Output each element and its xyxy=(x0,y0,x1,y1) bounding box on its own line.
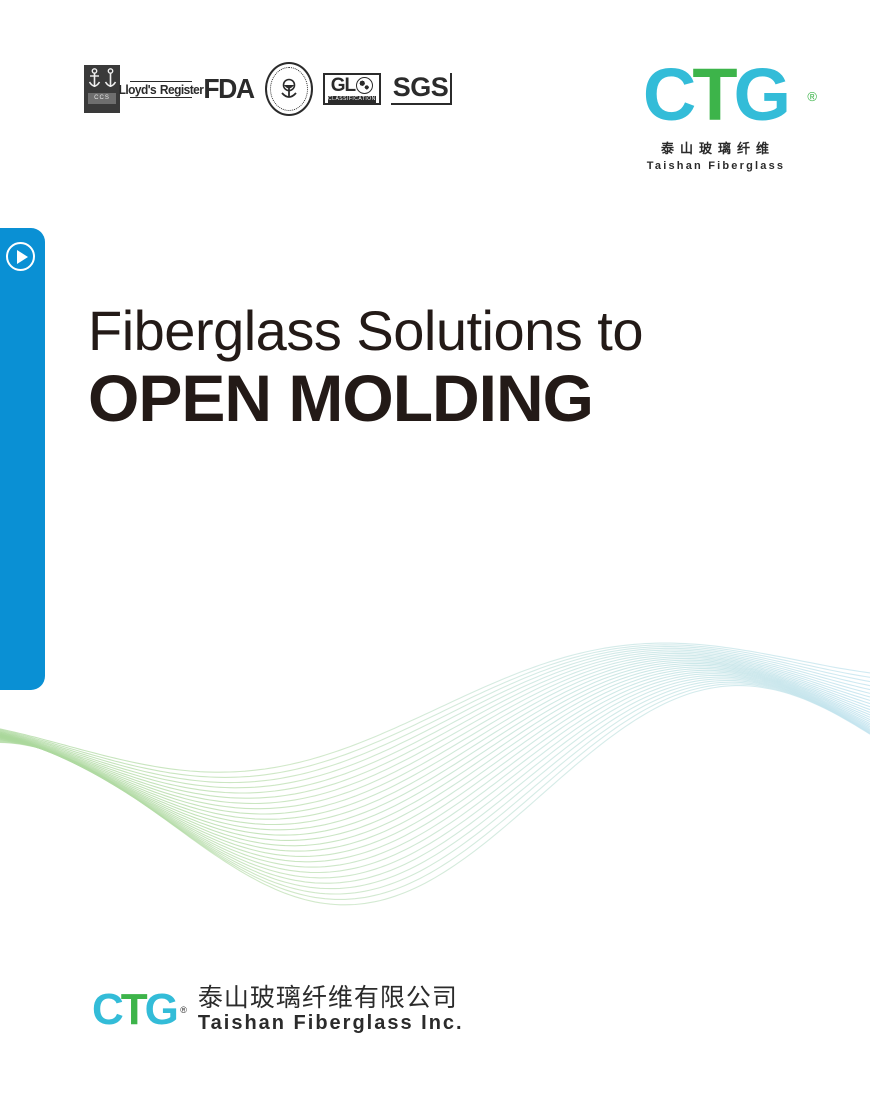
footer-chinese-name: 泰山玻璃纤维有限公司 xyxy=(198,985,464,1012)
footer-branding: CTG ® 泰山玻璃纤维有限公司 Taishan Fiberglass Inc. xyxy=(92,985,464,1035)
footer-english-name: Taishan Fiberglass Inc. xyxy=(198,1012,464,1035)
glo-logo: GL CLASSIFICATION xyxy=(323,73,381,105)
title-line-1: Fiberglass Solutions to xyxy=(88,300,643,362)
footer-letter-c: C xyxy=(92,985,121,1034)
footer-letter-g: G xyxy=(145,985,176,1034)
footer-company-name: 泰山玻璃纤维有限公司 Taishan Fiberglass Inc. xyxy=(198,985,464,1035)
dnv-emblem-icon xyxy=(278,76,300,102)
anchor-icons xyxy=(88,68,117,90)
anchor-icon xyxy=(88,68,101,90)
lloyds-line1: Lloyd's xyxy=(119,83,157,96)
registered-mark-icon: ® xyxy=(807,60,817,134)
footer-registered-mark-icon: ® xyxy=(180,988,187,1032)
ccs-logo: CCS xyxy=(84,65,120,113)
ctg-chinese-name: 泰山玻璃纤维 xyxy=(625,138,805,157)
title-line-2: OPEN MOLDING xyxy=(88,362,643,434)
anchor-icon xyxy=(104,68,117,90)
cover-title: Fiberglass Solutions to OPEN MOLDING xyxy=(88,300,643,434)
ctg-header-logo: CTG ® 泰山玻璃纤维 Taishan Fiberglass xyxy=(625,58,805,172)
lloyds-line2: Register xyxy=(160,83,203,96)
glo-sublabel: CLASSIFICATION xyxy=(328,96,376,103)
ctg-letter-g: G xyxy=(734,53,788,136)
fda-logo: FDA xyxy=(203,73,253,105)
ctg-wordmark: CTG ® xyxy=(625,58,805,132)
sgs-logo: SGS xyxy=(391,73,453,105)
play-triangle-icon xyxy=(17,250,28,264)
certification-logo-strip: CCS Lloyd's Register FDA GL CLASSIFICATI… xyxy=(84,62,452,116)
document-cover-page: CCS Lloyd's Register FDA GL CLASSIFICATI… xyxy=(0,0,870,1120)
ctg-english-name: Taishan Fiberglass xyxy=(625,160,805,172)
dnv-logo xyxy=(265,62,313,116)
footer-letter-t: T xyxy=(121,985,145,1034)
glo-label: GL xyxy=(331,76,355,95)
glo-wordmark: GL xyxy=(331,76,373,95)
ctg-letter-c: C xyxy=(643,53,692,136)
ccs-label: CCS xyxy=(88,93,116,104)
decorative-wave-graphic xyxy=(0,560,870,960)
globe-icon xyxy=(356,77,373,94)
ctg-letter-t: T xyxy=(692,53,733,136)
lloyds-register-logo: Lloyd's Register xyxy=(130,81,192,98)
footer-ctg-wordmark: CTG ® xyxy=(92,988,176,1032)
play-icon[interactable] xyxy=(6,242,35,271)
